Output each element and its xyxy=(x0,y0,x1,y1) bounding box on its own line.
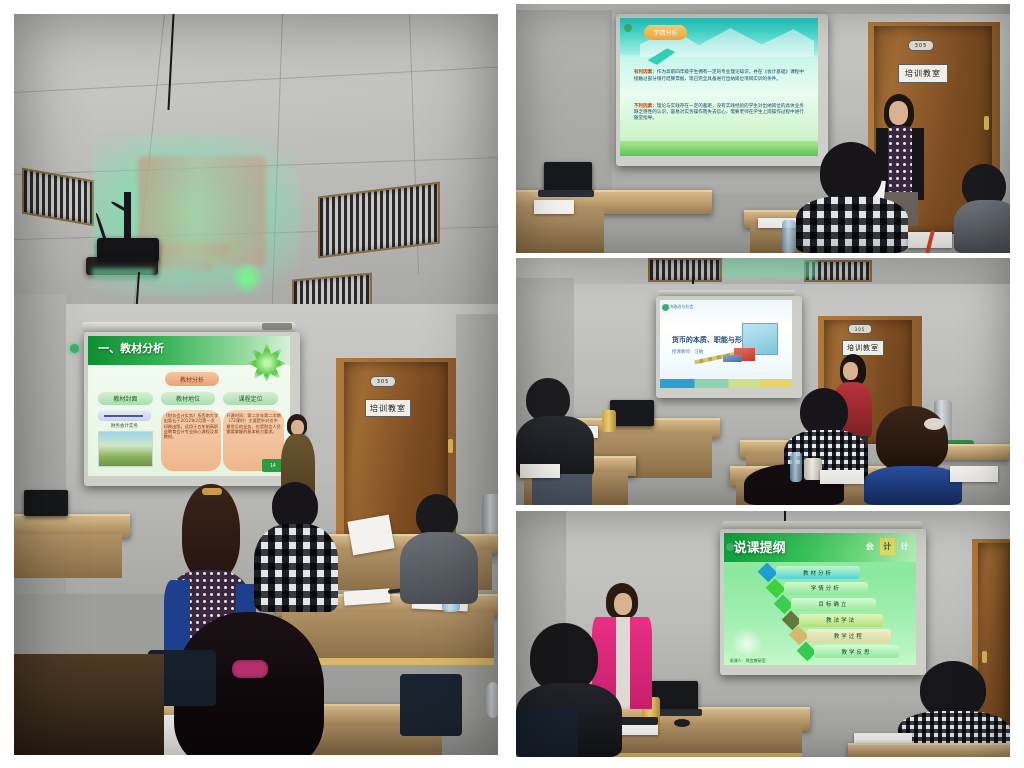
handout-paper xyxy=(520,464,560,478)
hair-scrunchie xyxy=(232,660,268,678)
student-desk-right xyxy=(848,743,1010,757)
slide-main-title: 货币的本质、职能与形式 xyxy=(672,335,749,345)
slide-title: 说课提纲 xyxy=(734,537,786,556)
computer-mouse[interactable] xyxy=(674,719,690,727)
water-bottle xyxy=(790,452,802,482)
classroom-chair[interactable] xyxy=(400,674,462,736)
student-grey-jacket xyxy=(400,532,478,604)
desk-edge-stripe xyxy=(612,753,802,757)
whiteboard-indicator-icon xyxy=(624,24,632,32)
projector-mount-arm xyxy=(124,192,131,244)
slide-column-header-2: 课程定位 xyxy=(223,392,278,405)
photo-collage: 一、教材分析 教材分析 教材封面 教材地位 课程定位 财务会计实务 《财务会计实… xyxy=(0,0,1024,768)
panel-presenter-red-dress-money-lesson: 经济政治与社会 货币的本质、职能与形式 授课教师：汪敏 305 培训教室 xyxy=(516,258,1010,505)
outline-item-1: 学情分析 xyxy=(784,582,868,595)
student-head xyxy=(820,142,882,204)
presenter-face xyxy=(614,593,632,615)
bullet-text: 作为高职四年级学生拥有一定的专业理论知识，并在《会计基础》课程中接触过部分银行结… xyxy=(634,70,804,81)
projector-lens-glow xyxy=(92,268,154,278)
vacuum-flask xyxy=(484,682,498,718)
student-seated-plaid-shirt xyxy=(796,142,908,253)
cover-arrow-box xyxy=(98,410,151,421)
bullet-text: 理论与实践存在一定的差距，没有实践经验的学生对出纳岗位的具体业务缺乏感性的认识，… xyxy=(634,104,804,121)
ceiling-light-panel xyxy=(648,258,722,282)
student-head xyxy=(800,388,848,436)
laptop-on-podium[interactable] xyxy=(610,400,654,426)
panel-presenter-pink-jacket-outline: 说课提纲 会 计 计 教材分析 学情分析 目标确立 教法学法 教学过程 教学 xyxy=(516,511,1010,757)
hair-clip xyxy=(202,488,222,495)
whiteboard-indicator-icon xyxy=(70,344,79,353)
outline-item-3: 教法学法 xyxy=(799,614,883,627)
student-blue-top xyxy=(864,466,962,505)
corner-kanji-2: 计 xyxy=(897,538,912,555)
laptop-base[interactable] xyxy=(538,190,594,197)
student-seated-back-left xyxy=(516,378,594,505)
projected-leaf-graphic xyxy=(230,262,264,294)
podium-desk-side xyxy=(516,208,604,253)
door-room-name-sign: 培训教室 xyxy=(898,64,948,83)
interactive-whiteboard-frame: 说课提纲 会 计 计 教材分析 学情分析 目标确立 教法学法 教学过程 教学 xyxy=(720,529,926,675)
whiteboard-indicator-icon xyxy=(726,543,734,551)
bullet-key: 不利因素： xyxy=(634,104,657,109)
floor xyxy=(14,654,164,755)
classroom-chair[interactable] xyxy=(516,707,578,757)
student-hair xyxy=(876,406,948,472)
slide-title: 一、教材分析 xyxy=(98,340,164,356)
outline-item-5: 教学反思 xyxy=(814,645,898,658)
slide-column-header-1: 教材地位 xyxy=(161,392,216,405)
water-bottle xyxy=(782,220,796,253)
whiteboard-screen-surface: 说课提纲 会 计 计 教材分析 学情分析 目标确立 教法学法 教学过程 教学 xyxy=(724,533,916,665)
handout-paper xyxy=(820,470,864,484)
slide-footer-bar xyxy=(660,379,792,388)
tea-cup xyxy=(602,410,616,432)
tablet-device xyxy=(618,717,658,725)
presenter-pink-blazer-right xyxy=(630,617,652,709)
door-handle[interactable] xyxy=(984,116,989,130)
student-grey-jacket xyxy=(954,200,1010,253)
arrow-line xyxy=(104,415,143,417)
student-seated-plaid-shirt xyxy=(254,482,338,612)
outline-item-4: 教学过程 xyxy=(807,629,891,642)
bullet-favourable: 有利因素：作为高职四年级学生拥有一定的专业理论知识，并在《会计基础》课程中接触过… xyxy=(634,70,804,82)
student-plaid-shirt xyxy=(796,196,908,253)
handout-paper xyxy=(534,200,574,214)
corner-kanji-0: 会 xyxy=(862,538,877,555)
panel-presenter-student-analysis: 学情分析 有利因素：作为高职四年级学生拥有一定的专业理论知识，并在《会计基础》课… xyxy=(516,4,1010,253)
door-room-number-sign: 305 xyxy=(908,40,934,51)
textbook-position-text: 《财务会计实务》系西南大学出版社于2012年2月第一次印刷出版，适用于五年制高职… xyxy=(161,410,222,471)
student-jeans xyxy=(532,474,592,505)
illustration-blue-book xyxy=(723,355,741,363)
interactive-whiteboard-frame: 经济政治与社会 货币的本质、职能与形式 授课教师：汪敏 xyxy=(656,296,802,398)
slide-subtitle: 授课教师：汪敏 xyxy=(672,349,704,355)
panel-main-classroom-wide-shot: 一、教材分析 教材分析 教材封面 教材地位 课程定位 财务会计实务 《财务会计实… xyxy=(14,14,498,755)
door-handle[interactable] xyxy=(448,439,453,453)
whiteboard-screen-surface: 经济政治与社会 货币的本质、职能与形式 授课教师：汪敏 xyxy=(660,300,792,388)
student-hair xyxy=(182,484,240,580)
door-room-number-sign: 305 xyxy=(370,376,396,387)
textbook-cover-image xyxy=(98,431,153,467)
student-plaid-shirt xyxy=(254,524,338,612)
door-room-number-sign: 305 xyxy=(848,324,872,334)
slide-course-tag: 经济政治与社会 xyxy=(665,304,693,310)
student-seated-curly-hair xyxy=(864,406,962,505)
handout-paper xyxy=(950,466,998,482)
slide-student-analysis: 学情分析 有利因素：作为高职四年级学生拥有一定的专业理论知识，并在《会计基础》课… xyxy=(620,18,818,156)
student-head xyxy=(272,482,318,530)
bullet-key: 有利因素： xyxy=(634,70,657,75)
presenter-face xyxy=(291,420,304,435)
slide-money-lesson-title: 经济政治与社会 货币的本质、职能与形式 授课教师：汪敏 xyxy=(660,300,792,388)
outline-item-2: 目标确立 xyxy=(791,598,875,611)
whiteboard-indicator-icon xyxy=(662,304,669,311)
held-paper xyxy=(347,515,394,556)
outline-item-0: 教材分析 xyxy=(776,566,860,579)
student-seated-grey-jacket xyxy=(400,494,478,604)
projection-screen-frame: 一、教材分析 教材分析 教材封面 教材地位 课程定位 财务会计实务 《财务会计实… xyxy=(84,332,300,486)
whiteboard-screen-surface: 学情分析 有利因素：作为高职四年级学生拥有一定的专业理论知识，并在《会计基础》课… xyxy=(620,18,818,156)
presenter-face xyxy=(843,362,858,380)
slide-lesson-outline: 说课提纲 会 计 计 教材分析 学情分析 目标确立 教法学法 教学过程 教学 xyxy=(724,533,916,665)
bullet-unfavourable: 不利因素：理论与实践存在一定的差距，没有实践经验的学生对出纳岗位的具体业务缺乏感… xyxy=(634,104,804,123)
projection-screen-surface: 一、教材分析 教材分析 教材封面 教材地位 课程定位 财务会计实务 《财务会计实… xyxy=(88,336,290,476)
slide-badge: 学情分析 xyxy=(644,25,688,40)
laptop-on-podium[interactable] xyxy=(544,162,592,192)
grass-footer-decoration xyxy=(620,141,818,156)
lotus-decoration xyxy=(730,628,765,654)
laptop-on-podium[interactable] xyxy=(24,490,68,516)
presenter-jacket-right xyxy=(912,128,924,200)
student-seated-right xyxy=(954,164,1010,253)
corner-kanji-1: 计 xyxy=(880,538,895,555)
slide-column-header-0: 教材封面 xyxy=(98,392,153,405)
slide-textbook-analysis: 一、教材分析 教材分析 教材封面 教材地位 课程定位 财务会计实务 《财务会计实… xyxy=(88,336,290,476)
door-room-name-sign: 培训教室 xyxy=(365,399,411,417)
podium-desk-side xyxy=(14,534,122,578)
slide-footer-text: 说课人：财会教研室 xyxy=(730,658,766,664)
slide-center-pill: 教材分析 xyxy=(165,372,220,386)
cover-caption: 财务会计实务 xyxy=(98,423,151,429)
screen-brand-label xyxy=(262,323,292,330)
presenter-face xyxy=(889,101,908,125)
hair-clip xyxy=(924,418,944,430)
projector-light-spill xyxy=(722,258,816,278)
